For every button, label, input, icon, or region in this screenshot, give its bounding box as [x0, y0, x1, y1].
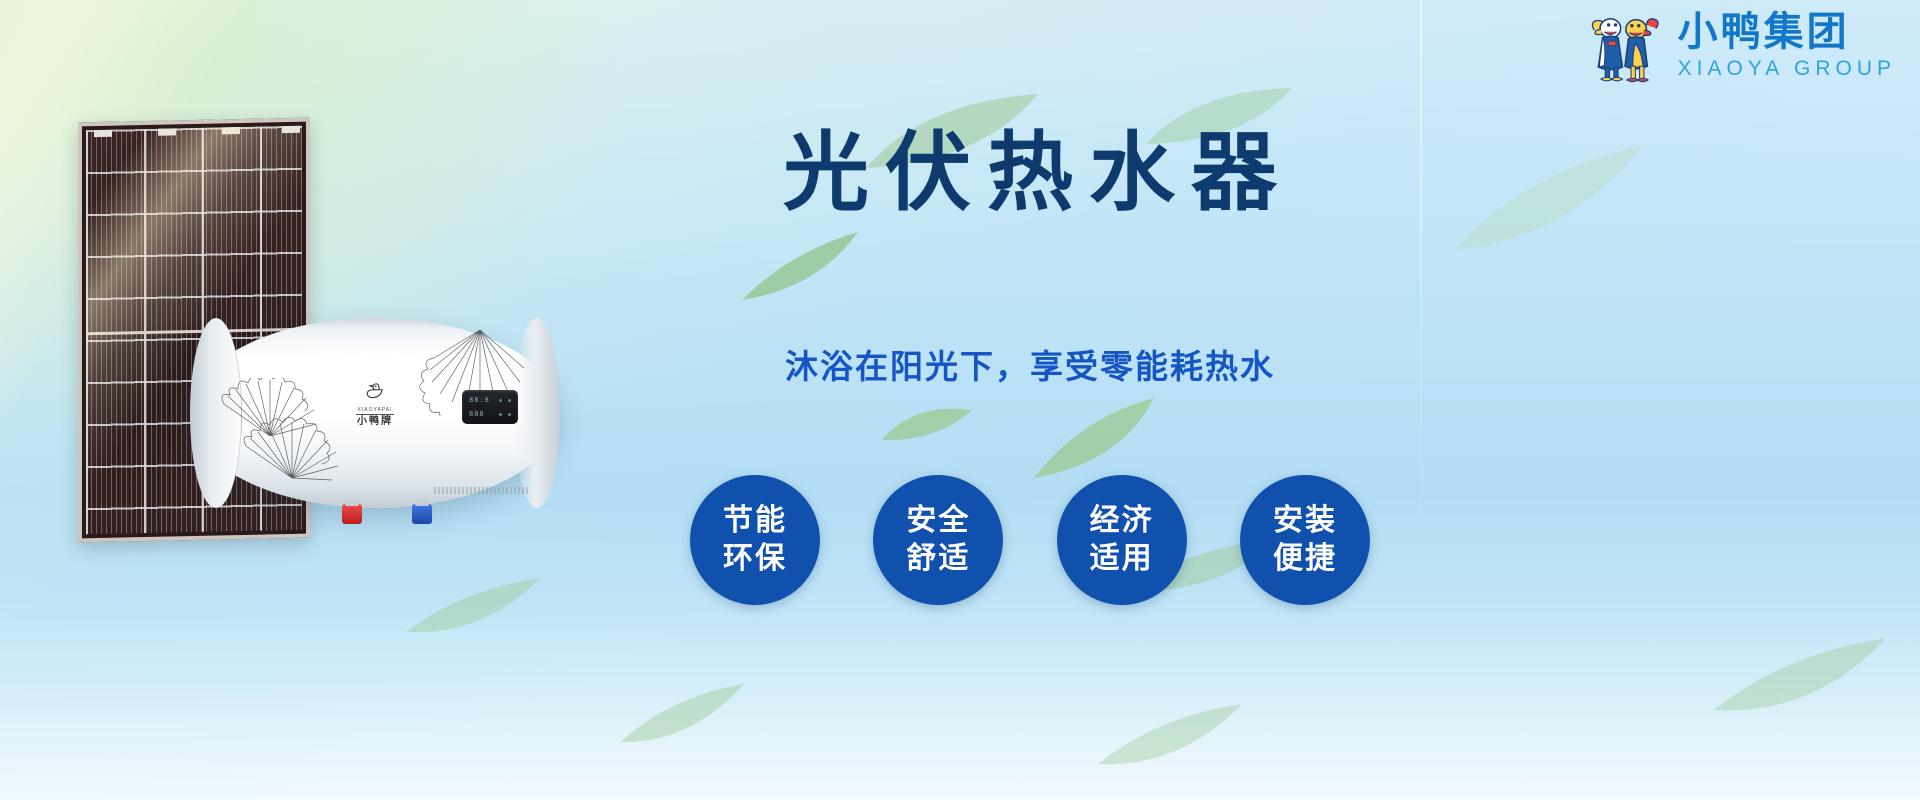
feature-badge-2[interactable]: 经济 适用	[1057, 475, 1187, 605]
cold-water-pipe	[412, 504, 432, 524]
page-subtitle: 沐浴在阳光下，享受零能耗热水	[700, 340, 1360, 388]
logo-english-name: XIAOYA GROUP	[1678, 58, 1896, 79]
logo-wordmark: 小鸭集团 XIAOYA GROUP	[1678, 12, 1896, 79]
page-title: 光伏热水器	[700, 126, 1360, 221]
leaf-decoration-icon	[880, 400, 976, 450]
leaf-decoration-icon	[1448, 140, 1648, 260]
product-brand-english: XIAOYAPAI	[358, 408, 393, 413]
heater-control-display[interactable]: 88:8 888	[462, 390, 518, 424]
brand-divider	[356, 414, 394, 415]
leaf-decoration-icon	[740, 230, 860, 302]
logo-chinese-name: 小鸭集团	[1678, 12, 1850, 52]
leaf-decoration-icon	[618, 680, 748, 750]
promo-banner: 小鸭集团 XIAOYA GROUP	[0, 0, 1920, 800]
hot-water-pipe	[342, 504, 362, 524]
product-brand-chinese: 小鸭牌	[357, 417, 393, 427]
leaf-decoration-icon	[404, 572, 544, 642]
product-label-strip	[434, 487, 530, 494]
feature-badge-1-line1: 安全	[906, 502, 970, 540]
bottom-fade	[0, 600, 1920, 800]
feature-badge-list: 节能 环保 安全 舒适 经济 适用 安装 便捷	[690, 470, 1370, 610]
feature-badge-0-line2: 环保	[723, 540, 787, 578]
leaf-decoration-icon	[1710, 630, 1890, 720]
floral-decal-left-icon	[214, 378, 354, 498]
duck-logo-icon	[362, 380, 388, 406]
feature-badge-2-line1: 经济	[1090, 502, 1154, 540]
feature-badge-0[interactable]: 节能 环保	[690, 475, 820, 605]
feature-badge-1[interactable]: 安全 舒适	[873, 475, 1003, 605]
display-digits-bottom: 888	[469, 410, 485, 418]
background-seam	[1420, 0, 1422, 560]
two-ducks-mascot-icon	[1582, 6, 1668, 92]
feature-badge-1-line2: 舒适	[906, 540, 970, 578]
feature-badge-3-line2: 便捷	[1273, 540, 1337, 578]
feature-badge-0-line1: 节能	[723, 502, 787, 540]
brand-logo[interactable]: 小鸭集团 XIAOYA GROUP	[1582, 6, 1896, 92]
display-indicators-bottom	[499, 413, 511, 416]
display-indicators-top	[499, 399, 511, 402]
leaf-decoration-icon	[1096, 698, 1246, 772]
feature-badge-3[interactable]: 安装 便捷	[1240, 475, 1370, 605]
display-digits-top: 88:8	[469, 396, 490, 404]
product-brand-mark: XIAOYAPAI 小鸭牌	[356, 380, 394, 427]
feature-badge-3-line1: 安装	[1273, 502, 1337, 540]
feature-badge-2-line2: 适用	[1090, 540, 1154, 578]
display-row-top: 88:8	[469, 396, 511, 404]
display-row-bottom: 888	[469, 410, 511, 418]
water-heater-product: XIAOYAPAI 小鸭牌 88:8 888	[190, 318, 560, 508]
